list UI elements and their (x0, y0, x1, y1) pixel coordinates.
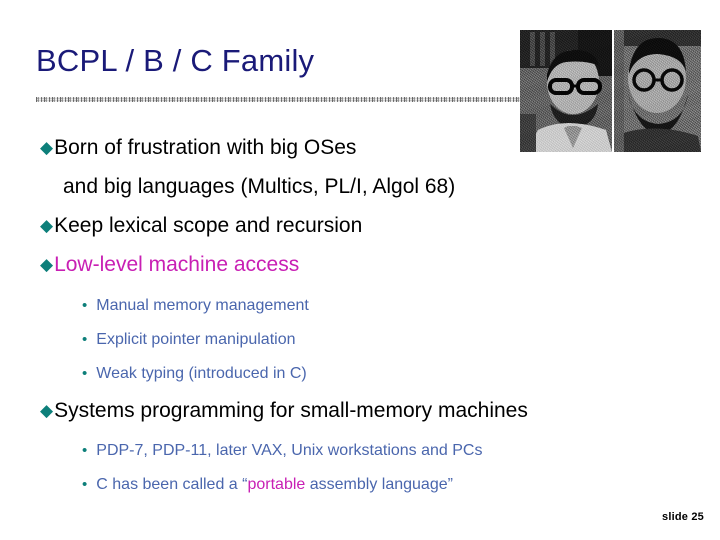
sub-bullet-item-5: •C has been called a “portable assembly … (82, 475, 453, 495)
bullet-item-1: ◆Born of frustration with big OSes (40, 135, 356, 160)
dot-bullet-icon: • (82, 297, 87, 314)
bullet-continuation-label: and big languages (Multics, PL/I, Algol … (63, 175, 455, 198)
bullet-label: Keep lexical scope and recursion (54, 214, 362, 237)
dot-bullet-icon: • (82, 476, 87, 493)
bullet-item-2: ◆Keep lexical scope and recursion (40, 213, 362, 238)
dot-bullet-icon: • (82, 331, 87, 348)
sub-bullet-label: Weak typing (introduced in C) (96, 365, 306, 382)
sub-bullet-item-3: •Weak typing (introduced in C) (82, 364, 307, 384)
sub-bullet-item-2: •Explicit pointer manipulation (82, 330, 295, 350)
sub-bullet-highlight: portable (247, 476, 305, 493)
sub-bullet-label: Explicit pointer manipulation (96, 331, 295, 348)
slide-number: slide 25 (662, 511, 704, 523)
sub-bullet-label: Manual memory management (96, 297, 309, 314)
bullet-label: Systems programming for small-memory mac… (54, 399, 528, 422)
bullet-item-3: ◆Low-level machine access (40, 252, 299, 277)
sub-bullet-prefix: C has been called a “ (96, 476, 247, 493)
bullet-item-4: ◆Systems programming for small-memory ma… (40, 398, 528, 423)
bullet-label: Born of frustration with big OSes (54, 136, 356, 159)
diamond-bullet-icon: ◆ (40, 138, 53, 157)
sub-bullet-item-4: •PDP-7, PDP-11, later VAX, Unix workstat… (82, 441, 482, 461)
diamond-bullet-icon: ◆ (40, 216, 53, 235)
diamond-bullet-icon: ◆ (40, 255, 53, 274)
sub-bullet-item-1: •Manual memory management (82, 296, 309, 316)
sub-bullet-suffix: assembly language” (305, 476, 453, 493)
dot-bullet-icon: • (82, 365, 87, 382)
slide-body: ◆Born of frustration with big OSes and b… (0, 0, 720, 540)
presentation-slide: BCPL / B / C Family (0, 0, 720, 540)
diamond-bullet-icon: ◆ (40, 401, 53, 420)
bullet-label: Low-level machine access (54, 253, 299, 276)
bullet-item-1-continuation: and big languages (Multics, PL/I, Algol … (63, 174, 455, 199)
sub-bullet-label: PDP-7, PDP-11, later VAX, Unix workstati… (96, 442, 482, 459)
dot-bullet-icon: • (82, 442, 87, 459)
